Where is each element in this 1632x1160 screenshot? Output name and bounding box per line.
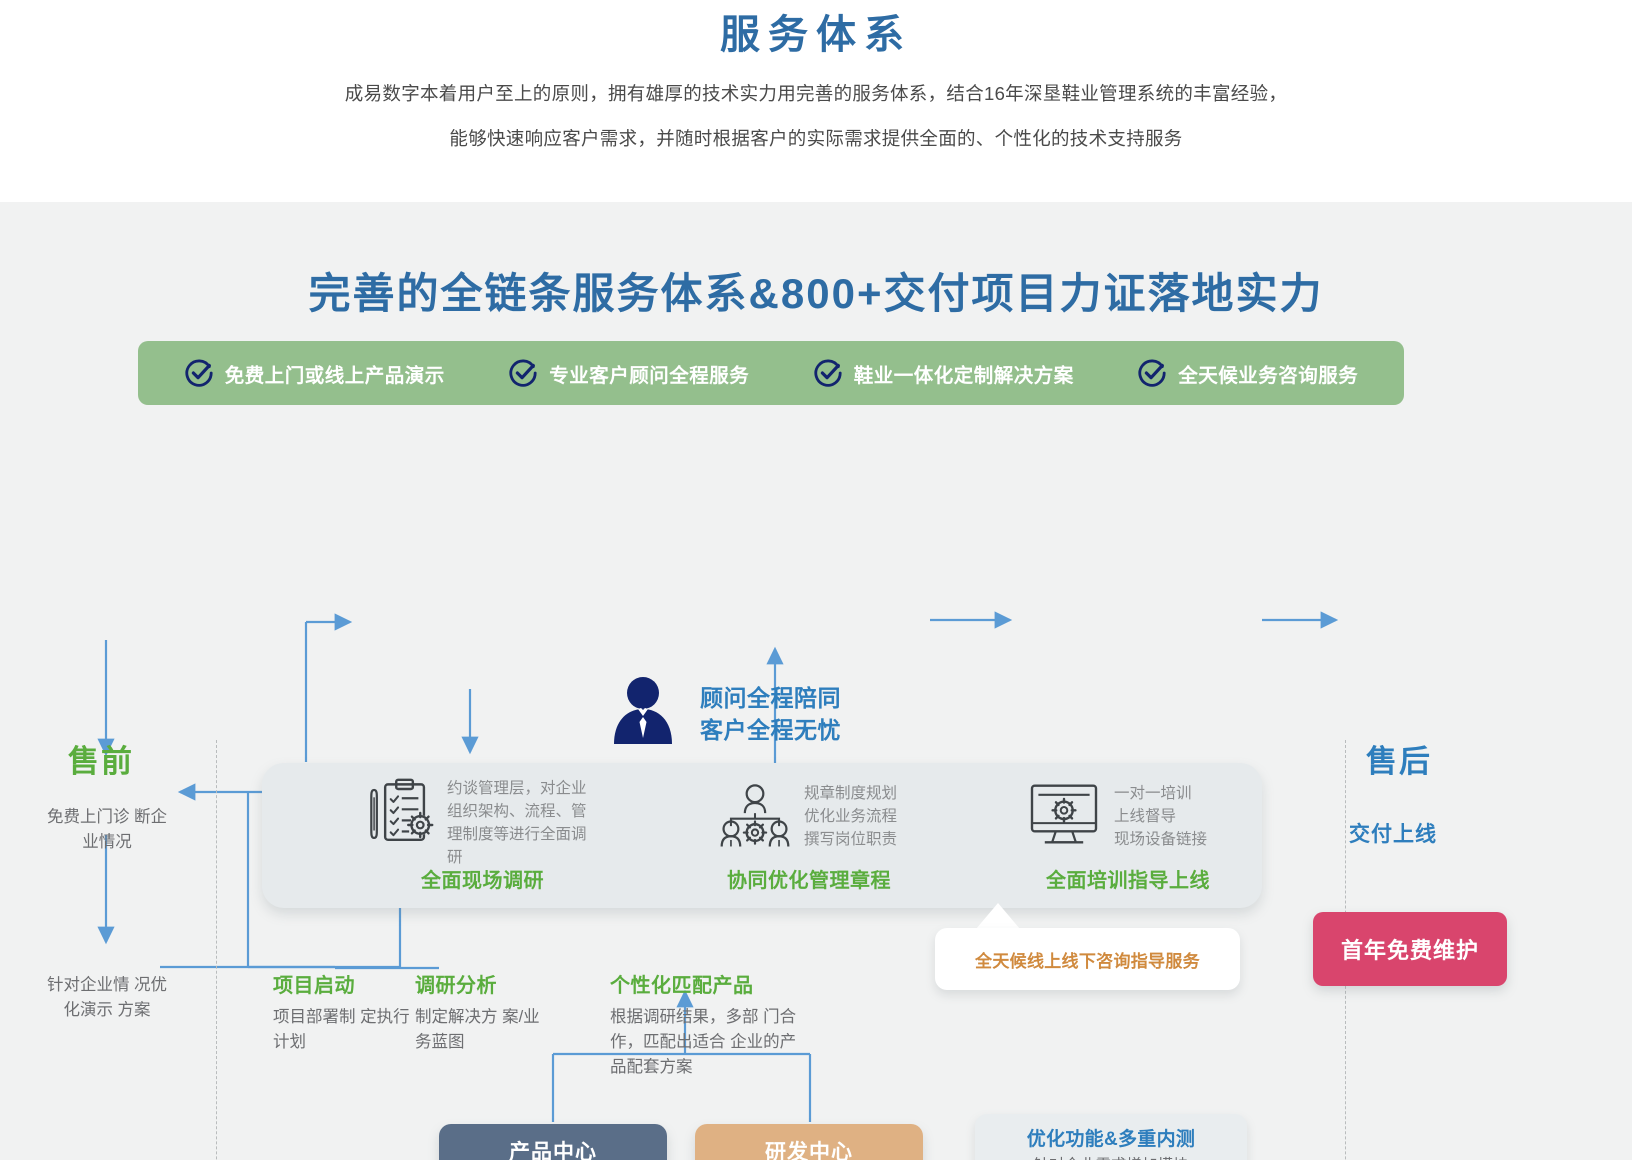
optimize-desc: 针对企业需求增加模块 确保系统畅顺运算 — [1033, 1155, 1188, 1160]
support-callout-label: 全天候线上线下咨询指导服务 — [975, 947, 1200, 972]
presale-step-1: 免费上门诊 断企业情况 — [44, 805, 170, 855]
mid-step-label-matching: 个性化匹配产品 — [610, 969, 754, 998]
delivery-online-label[interactable]: 交付上线 — [1349, 818, 1437, 848]
banner-item-label: 专业客户顾问全程服务 — [549, 359, 749, 388]
free-maintenance-label: 首年免费维护 — [1341, 933, 1479, 965]
flow-step-label-survey: 全面现场调研 — [421, 864, 544, 893]
banner-item-label: 全天候业务咨询服务 — [1178, 359, 1358, 388]
check-circle-icon — [1137, 358, 1167, 388]
product-center-title: 产品中心 — [509, 1136, 597, 1160]
check-circle-icon — [813, 358, 843, 388]
clipboard-gear-icon — [363, 777, 435, 849]
banner-item-1[interactable]: 专业客户顾问全程服务 — [508, 358, 749, 388]
monitor-gear-icon — [1026, 782, 1102, 846]
support-callout: 全天候线上线下咨询指导服务 — [935, 928, 1240, 990]
advisor-slogan-line-2: 客户全程无忧 — [700, 714, 841, 746]
advisor-slogan-line-1: 顾问全程陪同 — [700, 682, 841, 714]
banner-item-label: 免费上门或线上产品演示 — [225, 359, 445, 388]
postsale-heading: 售后 — [1366, 736, 1432, 781]
mid-step-label-launch: 项目启动 — [273, 969, 355, 998]
presale-heading: 售前 — [68, 736, 134, 781]
rd-center-title: 研发中心 — [765, 1136, 853, 1160]
flow-step-desc: 约谈管理层，对企业 组织架构、流程、管 理制度等进行全面调 研 — [447, 777, 619, 869]
service-system-stage: 完善的全链条服务体系&800+交付项目力证落地实力 免费上门或线上产品演示 — [0, 202, 1632, 1160]
divider-left — [216, 740, 217, 1160]
flow-step-label-training: 全面培训指导上线 — [1046, 864, 1210, 893]
banner-item-label: 鞋业一体化定制解决方案 — [854, 359, 1074, 388]
advisor-slogan: 顾问全程陪同 客户全程无忧 — [700, 682, 841, 746]
page-title: 服务体系 — [0, 2, 1632, 60]
mid-step-desc-analysis: 制定解决方 案/业务蓝图 — [415, 1005, 555, 1055]
flow-step-survey: 约谈管理层，对企业 组织架构、流程、管 理制度等进行全面调 研 — [363, 777, 619, 869]
optimize-card: 优化功能&多重内测 针对企业需求增加模块 确保系统畅顺运算 — [975, 1114, 1247, 1160]
callout-pointer — [976, 903, 1020, 929]
flow-step-training: 一对一培训 上线督导 现场设备链接 — [1026, 782, 1244, 851]
mid-step-desc-launch: 项目部署制 定执行计划 — [273, 1005, 413, 1055]
page-subtitle-line-1: 成易数字本着用户至上的原则，拥有雄厚的技术实力用完善的服务体系，结合16年深垦鞋… — [0, 80, 1632, 106]
product-center-card[interactable]: 产品中心 产品匹配管理 — [439, 1124, 667, 1160]
flow-step-desc: 规章制度规划 优化业务流程 撰写岗位职责 — [804, 782, 934, 851]
stage-title: 完善的全链条服务体系&800+交付项目力证落地实力 — [0, 260, 1632, 321]
check-circle-icon — [184, 358, 214, 388]
banner-item-2[interactable]: 鞋业一体化定制解决方案 — [813, 358, 1074, 388]
free-maintenance-badge: 首年免费维护 — [1313, 912, 1507, 986]
optimize-title: 优化功能&多重内测 — [1027, 1124, 1195, 1151]
page-subtitle-line-2: 能够快速响应客户需求，并随时根据客户的实际需求提供全面的、个性化的技术支持服务 — [0, 125, 1632, 151]
banner-item-3[interactable]: 全天候业务咨询服务 — [1137, 358, 1358, 388]
page-header: 服务体系 成易数字本着用户至上的原则，拥有雄厚的技术实力用完善的服务体系，结合1… — [0, 0, 1632, 200]
presale-step-2: 针对企业情 况优化演示 方案 — [44, 973, 170, 1023]
flow-step-governance: 规章制度规划 优化业务流程 撰写岗位职责 — [718, 782, 934, 851]
check-circle-icon — [508, 358, 538, 388]
rd-center-card[interactable]: 研发中心 技术&研发管理 — [695, 1124, 923, 1160]
mid-step-desc-matching: 根据调研结果，多部 门合作，匹配出适合 企业的产品配套方案 — [610, 1005, 810, 1080]
mid-step-label-analysis: 调研分析 — [415, 969, 497, 998]
flow-step-label-governance: 协同优化管理章程 — [727, 864, 891, 893]
person-tie-icon — [612, 676, 674, 744]
team-gear-icon — [718, 782, 792, 848]
banner-item-0[interactable]: 免费上门或线上产品演示 — [184, 358, 445, 388]
flow-step-desc: 一对一培训 上线督导 现场设备链接 — [1114, 782, 1244, 851]
feature-banner: 免费上门或线上产品演示 专业客户顾问全程服务 鞋 — [138, 341, 1404, 405]
